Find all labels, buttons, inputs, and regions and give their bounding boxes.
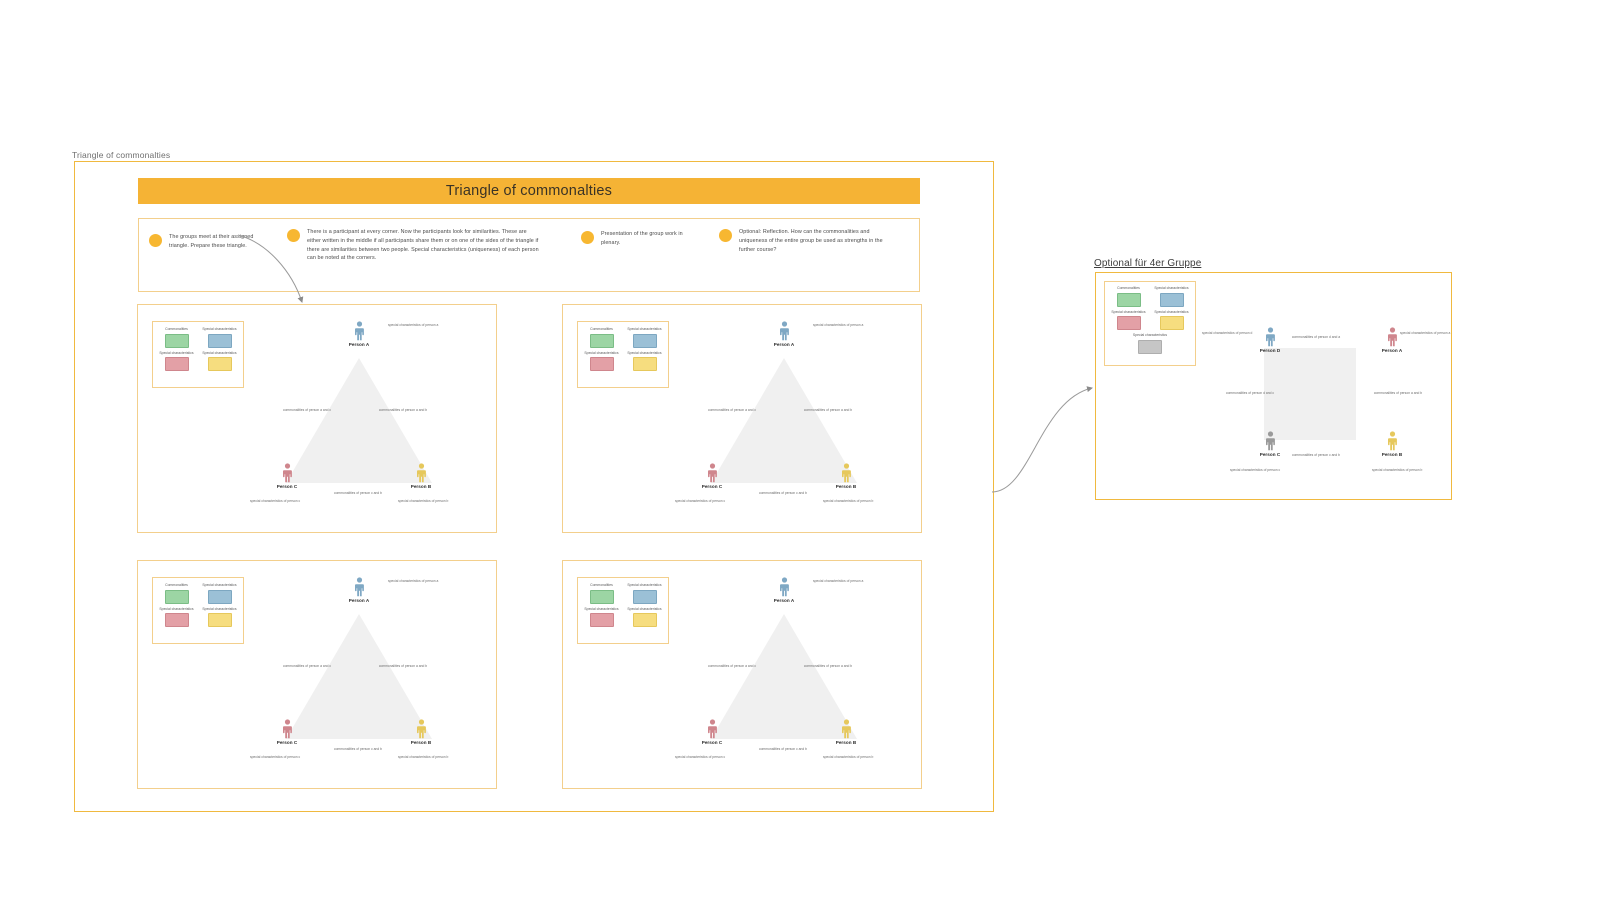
legend-swatch	[208, 613, 232, 627]
legend-item: Special characteristics	[201, 352, 238, 372]
legend-caption: Special characteristics	[1111, 311, 1145, 315]
person-node-a[interactable]: Person A	[333, 577, 385, 603]
person-icon	[283, 463, 292, 483]
person-node-a[interactable]: Person A	[758, 577, 810, 603]
person-label: Person A	[758, 598, 810, 603]
person-note-b: special characteristics of person b	[398, 499, 448, 503]
instructions-panel: The groups meet at their assigned triang…	[138, 218, 920, 292]
legend-item: Special characteristics	[1153, 311, 1190, 331]
legend-item: Commonalities	[158, 584, 195, 604]
person-label: Person A	[333, 598, 385, 603]
triangle-card[interactable]: CommonalitiesSpecial characteristicsSpec…	[137, 304, 497, 533]
instruction-step-3: Presentation of the group work in plenar…	[581, 230, 693, 248]
person-note-a: special characteristics of person a	[813, 579, 863, 583]
instruction-step-1: The groups meet at their assigned triang…	[149, 233, 259, 251]
legend-swatch	[1117, 316, 1141, 330]
side-label-ac: commonalities of person a and c	[697, 664, 767, 668]
legend-item: Commonalities	[583, 328, 620, 348]
bullet-icon	[581, 231, 594, 244]
bullet-icon	[287, 229, 300, 242]
side-label-ab: commonalities of person a and b	[793, 408, 863, 412]
legend-item: Commonalities	[583, 584, 620, 604]
legend-box: CommonalitiesSpecial characteristicsSpec…	[577, 321, 669, 388]
person-note-c: special characteristics of person c	[675, 499, 725, 503]
side-label-ab: commonalities of person a and b	[368, 408, 438, 412]
side-label-ac: commonalities of person a and c	[272, 664, 342, 668]
optional-panel-title: Optional für 4er Gruppe	[1094, 258, 1201, 269]
person-node-b[interactable]: Person B	[820, 463, 872, 489]
legend-item: Special characteristics	[626, 584, 663, 604]
legend-item: Special characteristics	[1153, 287, 1190, 307]
legend-swatch	[633, 613, 657, 627]
person-note-b: special characteristics of person b	[398, 755, 448, 759]
legend-swatch	[208, 334, 232, 348]
person-label: Person B	[1366, 452, 1418, 457]
person-label: Person C	[261, 484, 313, 489]
legend-item: Special characteristics	[1110, 311, 1147, 331]
legend-caption: Commonalities	[165, 328, 188, 332]
legend-item: Commonalities	[158, 328, 195, 348]
person-label: Person C	[261, 740, 313, 745]
person-icon	[417, 463, 426, 483]
person-icon	[417, 719, 426, 739]
legend-swatch	[1117, 293, 1141, 307]
legend-caption: Special characteristics	[202, 608, 236, 612]
person-note-b: special characteristics of person b	[1372, 468, 1422, 472]
legend-caption: Special characteristics	[584, 608, 618, 612]
side-label-ac: commonalities of person a and c	[697, 408, 767, 412]
person-icon	[708, 463, 717, 483]
person-note-c: special characteristics of person c	[250, 755, 300, 759]
legend-swatch	[165, 613, 189, 627]
legend-swatch	[590, 613, 614, 627]
legend-caption: Special characteristics	[202, 328, 236, 332]
person-node-c[interactable]: Person C	[686, 719, 738, 745]
legend-caption: Special characteristics	[627, 352, 661, 356]
person-note-c: special characteristics of person c	[675, 755, 725, 759]
triangle-scene: Person Aspecial characteristics of perso…	[248, 313, 488, 528]
instruction-text: Optional: Reflection. How can the common…	[739, 228, 897, 254]
person-note-a: special characteristics of person a	[388, 579, 438, 583]
legend-item: Special characteristics	[626, 328, 663, 348]
person-node-b[interactable]: Person B	[395, 719, 447, 745]
side-label-cb: commonalities of person c and b	[748, 491, 818, 495]
legend-item: Special characteristics	[583, 352, 620, 372]
instruction-step-4: Optional: Reflection. How can the common…	[719, 228, 897, 254]
person-label: Person B	[820, 740, 872, 745]
person-label: Person B	[395, 740, 447, 745]
legend-swatch	[1160, 293, 1184, 307]
page-title: Triangle of commonalties	[446, 183, 612, 199]
person-label: Person C	[686, 484, 738, 489]
person-node-c[interactable]: Person C	[261, 463, 313, 489]
side-label-cb: commonalities of person c and b	[748, 747, 818, 751]
person-icon	[1388, 327, 1397, 347]
person-note-a: special characteristics of person a	[1400, 331, 1450, 335]
legend-swatch	[633, 357, 657, 371]
legend-item: Special characteristics	[201, 328, 238, 348]
canvas-stage: Triangle of commonalties Triangle of com…	[0, 0, 1600, 900]
person-node-b[interactable]: Person B	[820, 719, 872, 745]
side-label-cb: commonalities of person c and b	[323, 491, 393, 495]
square-scene: Person Dspecial characteristics of perso…	[1204, 313, 1448, 493]
person-node-c[interactable]: Person C	[261, 719, 313, 745]
person-node-a[interactable]: Person A	[333, 321, 385, 347]
person-icon	[708, 719, 717, 739]
legend-item: Commonalities	[1110, 287, 1147, 307]
legend-swatch	[590, 590, 614, 604]
legend-box: CommonalitiesSpecial characteristicsSpec…	[152, 577, 244, 644]
legend-caption: Commonalities	[165, 584, 188, 588]
legend-caption: Special characteristics	[584, 352, 618, 356]
legend-caption: Special characteristics	[627, 584, 661, 588]
legend-item: Special characteristics	[201, 584, 238, 604]
legend-caption: Special characteristics	[159, 608, 193, 612]
person-note-c: special characteristics of person c	[250, 499, 300, 503]
triangle-scene: Person Aspecial characteristics of perso…	[673, 569, 913, 784]
legend-swatch	[590, 357, 614, 371]
person-icon	[1388, 431, 1397, 451]
legend-box: CommonalitiesSpecial characteristicsSpec…	[577, 577, 669, 644]
triangle-scene: Person Aspecial characteristics of perso…	[248, 569, 488, 784]
person-label: Person A	[333, 342, 385, 347]
legend-item: Special characteristics	[201, 608, 238, 628]
legend-caption: Special characteristics	[1154, 311, 1188, 315]
legend-swatch	[165, 334, 189, 348]
legend-caption: Special characteristics	[202, 584, 236, 588]
legend-caption: Special characteristics	[1154, 287, 1188, 291]
person-icon	[1266, 431, 1275, 451]
legend-item: Special characteristics	[158, 608, 195, 628]
side-label-cb: commonalities of person c and b	[1286, 453, 1346, 457]
main-frame: Triangle of commonalties The groups meet…	[74, 161, 994, 812]
legend-caption: Special characteristics	[1133, 334, 1167, 338]
side-label-ab: commonalities of person a and b	[793, 664, 863, 668]
bullet-icon	[719, 229, 732, 242]
person-node-b[interactable]: Person B	[1366, 431, 1418, 457]
triangle-card[interactable]: CommonalitiesSpecial characteristicsSpec…	[562, 560, 922, 789]
person-note-d: special characteristics of person d	[1202, 331, 1252, 335]
person-node-b[interactable]: Person B	[395, 463, 447, 489]
legend-item: Special characteristics	[583, 608, 620, 628]
legend-swatch	[208, 357, 232, 371]
person-label: Person B	[820, 484, 872, 489]
legend-swatch	[165, 590, 189, 604]
person-icon	[842, 719, 851, 739]
connector-arrow-main-to-optional	[992, 388, 1092, 492]
legend-caption: Special characteristics	[627, 328, 661, 332]
legend-swatch	[208, 590, 232, 604]
person-icon	[842, 463, 851, 483]
canvas-title-label: Triangle of commonalties	[72, 150, 170, 160]
side-label-ab: commonalities of person a and b	[368, 664, 438, 668]
person-label: Person A	[1366, 348, 1418, 353]
legend-item: Special characteristics	[1110, 334, 1190, 354]
person-icon	[283, 719, 292, 739]
bullet-icon	[149, 234, 162, 247]
legend-caption: Commonalities	[590, 584, 613, 588]
triangle-scene: Person Aspecial characteristics of perso…	[673, 313, 913, 528]
side-label-ac: commonalities of person a and c	[272, 408, 342, 412]
side-label-da: commonalities of person d and a	[1286, 335, 1346, 339]
person-icon	[355, 577, 364, 597]
legend-item: Special characteristics	[626, 352, 663, 372]
triangle-card[interactable]: CommonalitiesSpecial characteristicsSpec…	[562, 304, 922, 533]
legend-swatch	[1138, 340, 1162, 354]
triangle-card[interactable]: CommonalitiesSpecial characteristicsSpec…	[137, 560, 497, 789]
person-icon	[355, 321, 364, 341]
person-label: Person A	[758, 342, 810, 347]
person-label: Person B	[395, 484, 447, 489]
side-label-dc: commonalities of person d and c	[1220, 391, 1280, 395]
person-note-b: special characteristics of person b	[823, 755, 873, 759]
legend-caption: Special characteristics	[159, 352, 193, 356]
side-label-ab: commonalities of person a and b	[1368, 391, 1428, 395]
person-node-a[interactable]: Person A	[758, 321, 810, 347]
legend-box: CommonalitiesSpecial characteristicsSpec…	[1104, 281, 1196, 366]
person-icon	[780, 577, 789, 597]
optional-frame: CommonalitiesSpecial characteristicsSpec…	[1095, 272, 1452, 500]
person-icon	[1266, 327, 1275, 347]
side-label-cb: commonalities of person c and b	[323, 747, 393, 751]
legend-swatch	[633, 334, 657, 348]
legend-swatch	[1160, 316, 1184, 330]
person-label: Person C	[686, 740, 738, 745]
title-banner: Triangle of commonalties	[138, 178, 920, 204]
legend-caption: Special characteristics	[202, 352, 236, 356]
legend-swatch	[590, 334, 614, 348]
person-note-a: special characteristics of person a	[388, 323, 438, 327]
person-label: Person D	[1244, 348, 1296, 353]
legend-caption: Commonalities	[590, 328, 613, 332]
legend-caption: Special characteristics	[627, 608, 661, 612]
legend-item: Special characteristics	[626, 608, 663, 628]
legend-box: CommonalitiesSpecial characteristicsSpec…	[152, 321, 244, 388]
person-node-c[interactable]: Person C	[686, 463, 738, 489]
person-note-c: special characteristics of person c	[1230, 468, 1280, 472]
legend-swatch	[633, 590, 657, 604]
legend-swatch	[165, 357, 189, 371]
legend-item: Special characteristics	[158, 352, 195, 372]
instruction-text: The groups meet at their assigned triang…	[169, 233, 259, 251]
legend-caption: Commonalities	[1117, 287, 1140, 291]
person-icon	[780, 321, 789, 341]
instruction-text: Presentation of the group work in plenar…	[601, 230, 693, 248]
instruction-text: There is a participant at every corner. …	[307, 228, 539, 263]
instruction-step-2: There is a participant at every corner. …	[287, 228, 539, 263]
person-note-b: special characteristics of person b	[823, 499, 873, 503]
person-note-a: special characteristics of person a	[813, 323, 863, 327]
